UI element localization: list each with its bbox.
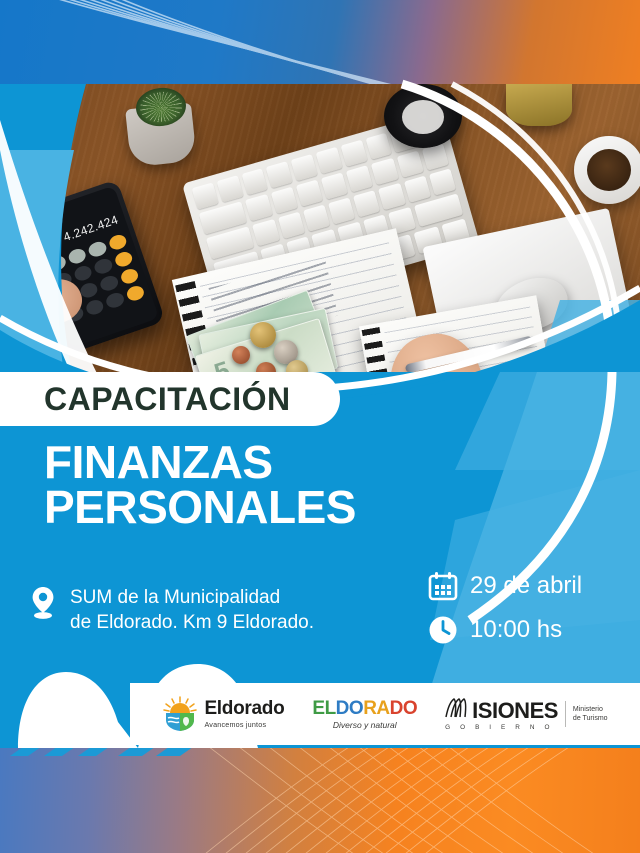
misiones-wordmark-block: ISIONES G O B I E R N O — [445, 698, 558, 731]
flyer-canvas: 4.242.424 5 — [0, 0, 640, 853]
misiones-government-logo: ISIONES G O B I E R N O Ministerio de Tu… — [445, 698, 607, 731]
headline-line-1: FINANZAS — [44, 440, 564, 485]
location-block: SUM de la Municipalidad de Eldorado. Km … — [30, 586, 314, 635]
time-text: 10:00 hs — [470, 616, 562, 644]
eldorado-tourism-logo: ELDORADO Diverso y natural — [312, 699, 417, 730]
eldorado-municipality-logo: Eldorado Avancemos juntos — [162, 696, 284, 732]
location-text: SUM de la Municipalidad de Eldorado. Km … — [70, 586, 314, 635]
location-line-2: de Eldorado. Km 9 Eldorado. — [70, 611, 314, 636]
clock-icon — [428, 615, 458, 645]
map-pin-icon — [30, 586, 56, 620]
date-text: 29 de abril — [470, 572, 582, 600]
eldorado-logo-tagline: Avancemos juntos — [204, 720, 284, 729]
sun-shield-emblem-icon — [162, 696, 198, 732]
gold-container — [506, 84, 572, 126]
eldorado-logo-name: Eldorado — [204, 699, 284, 718]
event-details: SUM de la Municipalidad de Eldorado. Km … — [0, 560, 640, 660]
datetime-block: 29 de abril 10:00 hs — [428, 564, 582, 652]
ministry-label: Ministerio de Turismo — [573, 705, 608, 724]
mesh-pattern-decoration — [0, 748, 640, 853]
headline-line-2: PERSONALES — [44, 485, 564, 530]
misiones-logo-letters: ISIONES — [472, 700, 558, 722]
calendar-icon — [428, 571, 458, 601]
misiones-logo-tagline: G O B I E R N O — [445, 724, 558, 731]
diagonal-streaks-decoration — [0, 0, 640, 88]
headphones — [384, 84, 462, 148]
time-row: 10:00 hs — [428, 608, 582, 652]
ministry-line-2: de Turismo — [573, 714, 608, 723]
eldorado-tourism-tagline: Diverso y natural — [333, 720, 397, 730]
date-row: 29 de abril — [428, 564, 582, 608]
misiones-m-monogram-icon — [445, 698, 471, 718]
coin — [250, 322, 276, 348]
coffee-cup — [574, 136, 640, 204]
page-title: FINANZAS PERSONALES — [44, 440, 564, 530]
top-gradient-banner — [0, 0, 640, 88]
misiones-logo-name: ISIONES — [445, 698, 558, 722]
logo-divider — [565, 701, 566, 727]
eldorado-logo-text: Eldorado Avancemos juntos — [204, 699, 284, 729]
location-line-1: SUM de la Municipalidad — [70, 586, 314, 611]
eldorado-tourism-wordmark: ELDORADO — [312, 699, 417, 718]
ministry-line-1: Ministerio — [573, 705, 608, 714]
badge-label: CAPACITACIÓN — [44, 381, 291, 418]
coin — [232, 346, 250, 364]
capacitacion-badge: CAPACITACIÓN — [0, 372, 340, 426]
sponsor-logo-bar: Eldorado Avancemos juntos ELDORADO Diver… — [130, 683, 640, 745]
desk-photo: 4.242.424 5 — [0, 84, 640, 414]
bottom-gradient-banner — [0, 748, 640, 853]
